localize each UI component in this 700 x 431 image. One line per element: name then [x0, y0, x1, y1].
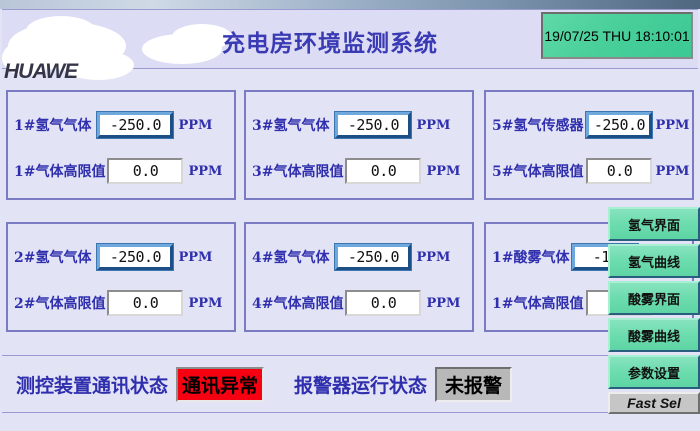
unit-label: PPM — [655, 164, 689, 179]
sensor-label: 3#氢气气体 — [246, 115, 329, 135]
comm-status-value: 通讯异常 — [182, 371, 258, 398]
limit-value: 0.0 — [371, 294, 397, 312]
unit-label: PPM — [178, 118, 212, 133]
limit-value: 0.0 — [133, 162, 159, 180]
alarm-status-value: 未报警 — [445, 371, 502, 398]
unit-label: PPM — [426, 296, 460, 311]
fast-select-button-hydrogen-screen[interactable]: 氢气界面 — [608, 207, 700, 241]
sensor-value-box[interactable]: -250.0 — [335, 112, 411, 138]
sensor-reading-row: 3#氢气气体 -250.0 PPM — [246, 108, 472, 142]
fast-select-footer[interactable]: Fast Sel — [608, 392, 700, 414]
sensor-label: 5#氢气传感器 — [486, 115, 583, 135]
limit-label: 1#气体高限值 — [486, 293, 583, 313]
fast-select-button-acidmist-screen[interactable]: 酸雾界面 — [608, 281, 700, 315]
limit-row: 3#气体高限值 0.0 PPM — [246, 154, 472, 188]
fast-select-footer-label: Fast Sel — [627, 395, 681, 411]
sensor-value: -250.0 — [348, 116, 399, 134]
sensor-reading-row: 2#氢气气体 -250.0 PPM — [8, 240, 234, 274]
sensor-value: -250.0 — [110, 248, 161, 266]
status-bar: 测控装置通讯状态 通讯异常 报警器运行状态 未报警 — [2, 355, 698, 413]
limit-value: 0.0 — [371, 162, 397, 180]
sensor-panel-3: 3#氢气气体 -250.0 PPM 3#气体高限值 0.0 PPM — [244, 90, 474, 200]
limit-value-box[interactable]: 0.0 — [107, 158, 183, 184]
limit-label: 3#气体高限值 — [246, 161, 343, 181]
limit-row: 4#气体高限值 0.0 PPM — [246, 286, 472, 320]
fast-select-menu: 氢气界面 氢气曲线 酸雾界面 酸雾曲线 参数设置 Fast Sel — [608, 207, 700, 431]
comm-status-label: 测控装置通讯状态 — [16, 371, 168, 398]
sensor-reading-row: 1#氢气气体 -250.0 PPM — [8, 108, 234, 142]
button-label: 酸雾界面 — [628, 289, 680, 308]
sensor-reading-row: 5#氢气传感器 -250.0 PPM — [486, 108, 692, 142]
button-label: 氢气曲线 — [628, 252, 680, 271]
sensor-label: 4#氢气气体 — [246, 247, 329, 267]
unit-label: PPM — [178, 250, 212, 265]
unit-label: PPM — [416, 250, 450, 265]
button-label: 氢气界面 — [628, 215, 680, 234]
sensor-value: -250.0 — [348, 248, 399, 266]
unit-label: PPM — [655, 118, 689, 133]
limit-value-box[interactable]: 0.0 — [586, 158, 652, 184]
sensor-value-box[interactable]: -250.0 — [97, 244, 173, 270]
fast-select-button-acidmist-curve[interactable]: 酸雾曲线 — [608, 318, 700, 352]
sensor-panel-1: 1#氢气气体 -250.0 PPM 1#气体高限值 0.0 PPM — [6, 90, 236, 200]
sensor-value-box[interactable]: -250.0 — [586, 112, 652, 138]
limit-row: 1#气体高限值 0.0 PPM — [8, 154, 234, 188]
alarm-status-label: 报警器运行状态 — [294, 371, 427, 398]
unit-label: PPM — [426, 164, 460, 179]
limit-value-box[interactable]: 0.0 — [107, 290, 183, 316]
limit-value: 0.0 — [607, 162, 633, 180]
fast-select-button-parameter-settings[interactable]: 参数设置 — [608, 355, 700, 389]
datetime-text: 19/07/25 THU 18:10:01 — [544, 28, 689, 44]
unit-label: PPM — [416, 118, 450, 133]
unit-label: PPM — [188, 296, 222, 311]
button-label: 酸雾曲线 — [628, 326, 680, 345]
sensor-label: 2#氢气气体 — [8, 247, 91, 267]
fast-select-button-hydrogen-curve[interactable]: 氢气曲线 — [608, 244, 700, 278]
limit-label: 1#气体高限值 — [8, 161, 105, 181]
sensor-panel-2: 2#氢气气体 -250.0 PPM 2#气体高限值 0.0 PPM — [6, 222, 236, 332]
sensor-label: 1#酸雾气体 — [486, 247, 569, 267]
limit-row: 5#气体高限值 0.0 PPM — [486, 154, 692, 188]
sensor-value: -250.0 — [594, 116, 645, 134]
sensor-label: 1#氢气气体 — [8, 115, 91, 135]
limit-label: 2#气体高限值 — [8, 293, 105, 313]
sensor-panel-5: 5#氢气传感器 -250.0 PPM 5#气体高限值 0.0 PPM — [484, 90, 694, 200]
limit-value: 0.0 — [133, 294, 159, 312]
button-label: 参数设置 — [628, 363, 680, 382]
comm-status-badge: 通讯异常 — [176, 367, 264, 402]
sensor-value: -250.0 — [110, 116, 161, 134]
sensor-reading-row: 4#氢气气体 -250.0 PPM — [246, 240, 472, 274]
sensor-panel-4: 4#氢气气体 -250.0 PPM 4#气体高限值 0.0 PPM — [244, 222, 474, 332]
sensor-value-box[interactable]: -250.0 — [335, 244, 411, 270]
limit-row: 2#气体高限值 0.0 PPM — [8, 286, 234, 320]
limit-value-box[interactable]: 0.0 — [345, 290, 421, 316]
logo-text: HUAWE — [4, 60, 77, 84]
unit-label: PPM — [188, 164, 222, 179]
alarm-status-badge: 未报警 — [435, 367, 512, 402]
limit-label: 5#气体高限值 — [486, 161, 583, 181]
page-title: 充电房环境监测系统 — [222, 24, 522, 58]
hmi-screen: HUAWE 充电房环境监测系统 19/07/25 THU 18:10:01 1#… — [0, 0, 700, 431]
sensor-value-box[interactable]: -250.0 — [97, 112, 173, 138]
limit-value-box[interactable]: 0.0 — [345, 158, 421, 184]
window-top-strip — [0, 0, 700, 9]
limit-label: 4#气体高限值 — [246, 293, 343, 313]
datetime-display: 19/07/25 THU 18:10:01 — [541, 12, 693, 59]
